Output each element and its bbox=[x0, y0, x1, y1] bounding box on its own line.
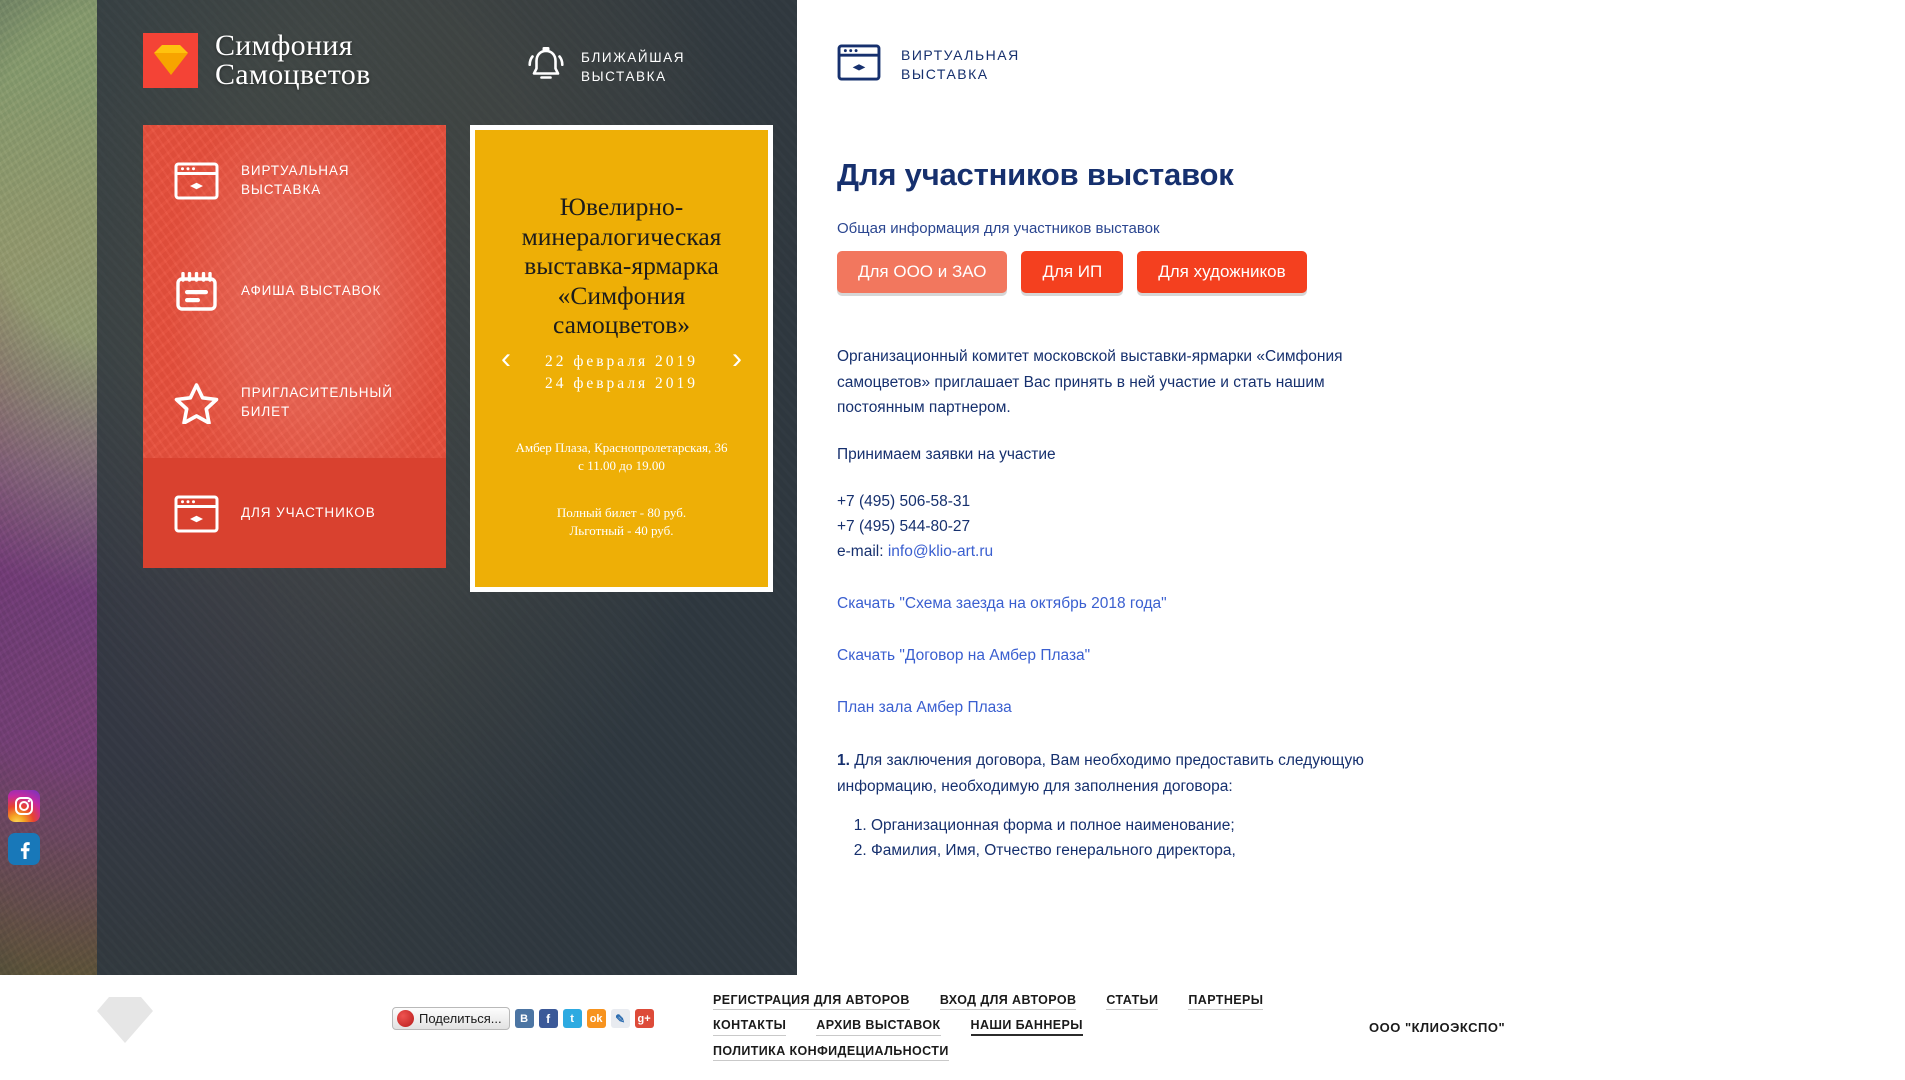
gem-icon bbox=[143, 33, 198, 88]
main-side-menu: ВИРТУАЛЬНАЯ ВЫСТАВКА АФИША ВЫСТАВОК ПРИГ… bbox=[143, 125, 446, 568]
site-header: Симфония Самоцветов БЛИЖАЙШАЯ ВЫСТАВКА bbox=[0, 0, 800, 120]
logo-text: Симфония Самоцветов bbox=[215, 31, 371, 89]
footer-link-author-registration[interactable]: РЕГИСТРАЦИЯ ДЛЯ АВТОРОВ bbox=[713, 993, 910, 1010]
sidebar-item-invitation-ticket[interactable]: ПРИГЛАСИТЕЛЬНЫЙ БИЛЕТ bbox=[143, 347, 446, 458]
site-logo[interactable]: Симфония Самоцветов bbox=[143, 31, 371, 89]
email-link[interactable]: info@klio-art.ru bbox=[888, 543, 993, 560]
poster-price: Полный билет - 80 руб. Льготный - 40 руб… bbox=[557, 504, 686, 541]
poster-title: Ювелирно- минералогическая выставка-ярма… bbox=[522, 192, 722, 340]
star-icon bbox=[173, 382, 219, 424]
sidebar-item-label: ВИРТУАЛЬНАЯ ВЫСТАВКА bbox=[241, 162, 349, 198]
sidebar-item-label: ДЛЯ УЧАСТНИКОВ bbox=[241, 504, 376, 522]
tab-for-ooo-zao[interactable]: Для ООО и ЗАО bbox=[837, 251, 1007, 293]
share-speaker-icon bbox=[397, 1010, 414, 1027]
sidebar-item-for-participants[interactable]: ДЛЯ УЧАСТНИКОВ bbox=[143, 458, 446, 568]
slider-prev-arrow-icon[interactable]: ‹ bbox=[501, 344, 511, 374]
share-google-plus-icon[interactable]: g+ bbox=[635, 1009, 654, 1028]
diamond-icon bbox=[97, 997, 153, 1048]
instagram-icon[interactable] bbox=[8, 790, 40, 822]
footer-link-author-login[interactable]: ВХОД ДЛЯ АВТОРОВ bbox=[940, 993, 1077, 1010]
poster-venue: Амбер Плаза, Краснопролетарская, 36 с 11… bbox=[515, 439, 727, 476]
hall-plan-link[interactable]: План зала Амбер Плаза bbox=[837, 695, 1397, 720]
list-item: Фамилия, Имя, Отчество генерального дире… bbox=[871, 838, 1397, 863]
intro-paragraph: Организационный комитет московской выста… bbox=[837, 344, 1397, 419]
sidebar-item-label: ПРИГЛАСИТЕЛЬНЫЙ БИЛЕТ bbox=[241, 384, 393, 420]
phone-secondary: +7 (495) 544-80-27 bbox=[837, 514, 1397, 539]
share-widget: Поделиться... В f t ok ✎ g+ bbox=[392, 1007, 654, 1030]
poster-dates: 22 февраля 2019 24 февраля 2019 bbox=[545, 351, 698, 396]
sidebar-item-label: АФИША ВЫСТАВОК bbox=[241, 282, 381, 300]
download-schema-link[interactable]: Скачать "Схема заезда на октябрь 2018 го… bbox=[837, 591, 1397, 616]
footer-link-privacy-policy[interactable]: ПОЛИТИКА КОНФИДЕЦИАЛЬНОСТИ bbox=[713, 1044, 949, 1061]
download-contract-link[interactable]: Скачать "Договор на Амбер Плаза" bbox=[837, 643, 1397, 668]
page-root: Симфония Самоцветов БЛИЖАЙШАЯ ВЫСТАВКА bbox=[0, 0, 1905, 1080]
calendar-icon bbox=[173, 272, 219, 312]
list-item: Организационная форма и полное наименова… bbox=[871, 813, 1397, 838]
footer-link-contacts[interactable]: КОНТАКТЫ bbox=[713, 1018, 786, 1036]
requirements-number: 1. bbox=[837, 752, 850, 769]
share-twitter-icon[interactable]: t bbox=[563, 1009, 582, 1028]
email-label: e-mail: bbox=[837, 543, 888, 560]
share-odnoklassniki-icon[interactable]: ok bbox=[587, 1009, 606, 1028]
footer-navigation: РЕГИСТРАЦИЯ ДЛЯ АВТОРОВ ВХОД ДЛЯ АВТОРОВ… bbox=[713, 993, 1353, 1069]
page-subtitle: Общая информация для участников выставок bbox=[837, 220, 1905, 237]
share-facebook-icon[interactable]: f bbox=[539, 1009, 558, 1028]
share-livejournal-icon[interactable]: ✎ bbox=[611, 1009, 630, 1028]
email-row: e-mail: info@klio-art.ru bbox=[837, 539, 1397, 564]
share-vk-icon[interactable]: В bbox=[515, 1009, 534, 1028]
exhibition-poster-slider: Ювелирно- минералогическая выставка-ярма… bbox=[470, 125, 773, 592]
browser-window-icon bbox=[837, 44, 881, 86]
tab-for-ip[interactable]: Для ИП bbox=[1021, 251, 1123, 293]
site-footer: Поделиться... В f t ok ✎ g+ РЕГИСТРАЦИЯ … bbox=[0, 975, 1905, 1080]
social-rail bbox=[8, 790, 40, 876]
tab-for-artists[interactable]: Для художников bbox=[1137, 251, 1306, 293]
article-body: Организационный комитет московской выста… bbox=[837, 344, 1397, 863]
phone-primary: +7 (495) 506-58-31 bbox=[837, 489, 1397, 514]
footer-link-exhibition-archive[interactable]: АРХИВ ВЫСТАВОК bbox=[816, 1018, 940, 1036]
nearest-exhibition-link[interactable]: БЛИЖАЙШАЯ ВЫСТАВКА bbox=[527, 44, 685, 91]
requirements-text: Для заключения договора, Вам необходимо … bbox=[837, 752, 1364, 794]
nearest-exhibition-label: БЛИЖАЙШАЯ ВЫСТАВКА bbox=[581, 49, 685, 86]
footer-nav-row: РЕГИСТРАЦИЯ ДЛЯ АВТОРОВ ВХОД ДЛЯ АВТОРОВ… bbox=[713, 993, 1353, 1010]
participant-type-button-group: Для ООО и ЗАО Для ИП Для художников bbox=[837, 251, 1905, 293]
footer-nav-row: ПОЛИТИКА КОНФИДЕЦИАЛЬНОСТИ bbox=[713, 1044, 1353, 1061]
slider-next-arrow-icon[interactable]: › bbox=[732, 344, 742, 374]
footer-link-articles[interactable]: СТАТЬИ bbox=[1106, 993, 1158, 1010]
virtual-exhibition-header-link[interactable]: ВИРТУАЛЬНАЯ ВЫСТАВКА bbox=[837, 44, 1905, 86]
content-panel: ВИРТУАЛЬНАЯ ВЫСТАВКА Для участников выст… bbox=[797, 0, 1905, 975]
poster-slide: Ювелирно- минералогическая выставка-ярма… bbox=[475, 130, 768, 587]
requirements-paragraph: 1. Для заключения договора, Вам необходи… bbox=[837, 748, 1397, 798]
bell-icon bbox=[527, 44, 565, 91]
footer-nav-row: КОНТАКТЫ АРХИВ ВЫСТАВОК НАШИ БАННЕРЫ bbox=[713, 1018, 1353, 1036]
applications-paragraph: Принимаем заявки на участие bbox=[837, 442, 1397, 467]
company-name: ООО "КЛИОЭКСПО" bbox=[1369, 1020, 1505, 1035]
virtual-exhibition-label: ВИРТУАЛЬНАЯ ВЫСТАВКА bbox=[901, 46, 1020, 84]
footer-link-partners[interactable]: ПАРТНЕРЫ bbox=[1188, 993, 1263, 1010]
sidebar-item-virtual-exhibition[interactable]: ВИРТУАЛЬНАЯ ВЫСТАВКА bbox=[143, 125, 446, 236]
footer-link-our-banners[interactable]: НАШИ БАННЕРЫ bbox=[971, 1018, 1083, 1036]
share-button-label: Поделиться... bbox=[419, 1011, 502, 1026]
browser-window-icon bbox=[173, 495, 219, 533]
page-title: Для участников выставок bbox=[837, 157, 1905, 193]
requirements-list: Организационная форма и полное наименова… bbox=[837, 813, 1397, 863]
share-button[interactable]: Поделиться... bbox=[392, 1007, 510, 1030]
facebook-icon[interactable] bbox=[8, 833, 40, 865]
browser-window-icon bbox=[173, 162, 219, 200]
sidebar-item-exhibition-poster[interactable]: АФИША ВЫСТАВОК bbox=[143, 236, 446, 347]
